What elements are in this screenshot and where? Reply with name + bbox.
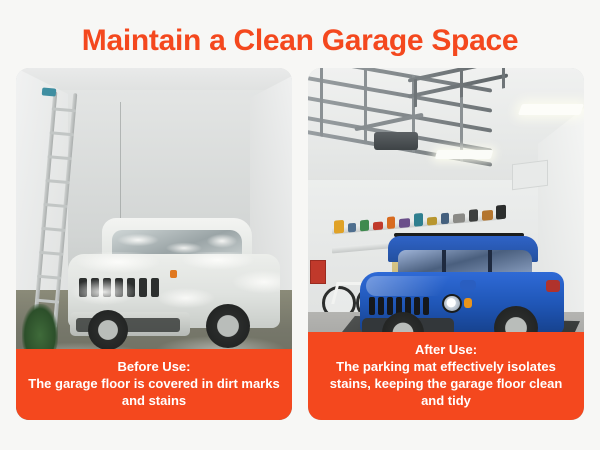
after-panel: After Use: The parking mat effectively i…: [308, 68, 584, 420]
foam-covered-suv: [54, 218, 286, 358]
garage-door-opener-icon: [374, 132, 418, 150]
before-caption-body: The garage floor is covered in dirt mark…: [26, 375, 282, 409]
comparison-panels: Before Use: The garage floor is covered …: [16, 68, 584, 420]
ladder-top-cap: [42, 87, 57, 96]
before-panel: Before Use: The garage floor is covered …: [16, 68, 292, 420]
before-caption: Before Use: The garage floor is covered …: [16, 349, 292, 420]
after-caption-title: After Use:: [318, 341, 574, 358]
page-title: Maintain a Clean Garage Space: [0, 24, 600, 58]
after-caption: After Use: The parking mat effectively i…: [308, 332, 584, 420]
ceiling-light-1: [435, 150, 494, 159]
after-caption-body: The parking mat effectively isolates sta…: [318, 358, 574, 409]
promo-graphic: Maintain a Clean Garage Space: [0, 0, 600, 450]
before-caption-title: Before Use:: [26, 358, 282, 375]
ceiling-vent: [512, 160, 548, 190]
ceiling-light-2: [518, 104, 584, 115]
